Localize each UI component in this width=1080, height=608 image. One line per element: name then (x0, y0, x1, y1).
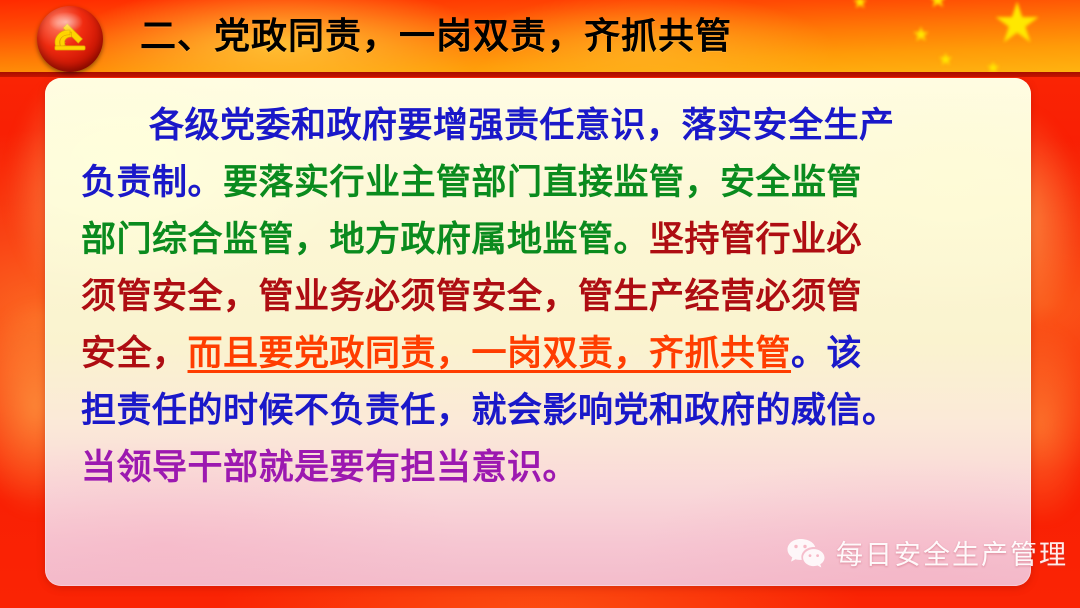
page-title: 二、党政同责，一岗双责，齐抓共管 (140, 17, 732, 57)
body-text-run: 。该 (791, 334, 862, 374)
body-text-run: 要落实行业主管部门直接监管，安全监管 (223, 163, 862, 203)
body-text-run: 担责任的时候不负责任，就会影响党和政府的威信。 (81, 391, 898, 431)
party-emblem-hammer-sickle-icon (37, 6, 103, 72)
body-text-run: 而且要党政同责，一岗双责，齐抓共管 (188, 334, 792, 374)
body-text: 各级党委和政府要增强责任意识，落实安全生产负责制。要落实行业主管部门直接监管，安… (81, 98, 1013, 497)
watermark: 每日安全生产管理 (786, 533, 1068, 572)
watermark-label: 每日安全生产管理 (836, 533, 1068, 572)
body-text-run: 坚持管行业必 (649, 220, 862, 260)
body-line: 当领导干部就是要有担当意识。 (81, 440, 1013, 497)
body-line: 各级党委和政府要增强责任意识，落实安全生产 (81, 98, 1013, 155)
body-line: 安全，而且要党政同责，一岗双责，齐抓共管。该 (81, 326, 1013, 383)
body-line: 负责制。要落实行业主管部门直接监管，安全监管 (81, 155, 1013, 212)
body-text-run: 负责制。 (81, 163, 223, 203)
body-text-run: 部门综合监管，地方政府属地监管。 (81, 220, 649, 260)
content-panel: 各级党委和政府要增强责任意识，落实安全生产负责制。要落实行业主管部门直接监管，安… (45, 78, 1031, 586)
body-text-run: 安全， (81, 334, 188, 374)
slide-root: ★ ★ ★ ★ ★ ★ 二、党政同责，一岗双责，齐抓共管 各级党委和政府要增强责… (0, 0, 1080, 608)
body-text-run: 各级党委和政府要增强责任意识，落实安全生产 (149, 106, 895, 146)
body-line: 担责任的时候不负责任，就会影响党和政府的威信。 (81, 383, 1013, 440)
body-text-run: 当领导干部就是要有担当意识。 (81, 448, 578, 488)
wechat-icon (786, 537, 826, 569)
body-line: 须管安全，管业务必须管安全，管生产经营必须管 (81, 269, 1013, 326)
body-line: 部门综合监管，地方政府属地监管。坚持管行业必 (81, 212, 1013, 269)
body-text-run: 须管安全，管业务必须管安全，管生产经营必须管 (81, 277, 862, 317)
emblem-gloss (49, 12, 83, 32)
header-divider (0, 72, 1080, 77)
